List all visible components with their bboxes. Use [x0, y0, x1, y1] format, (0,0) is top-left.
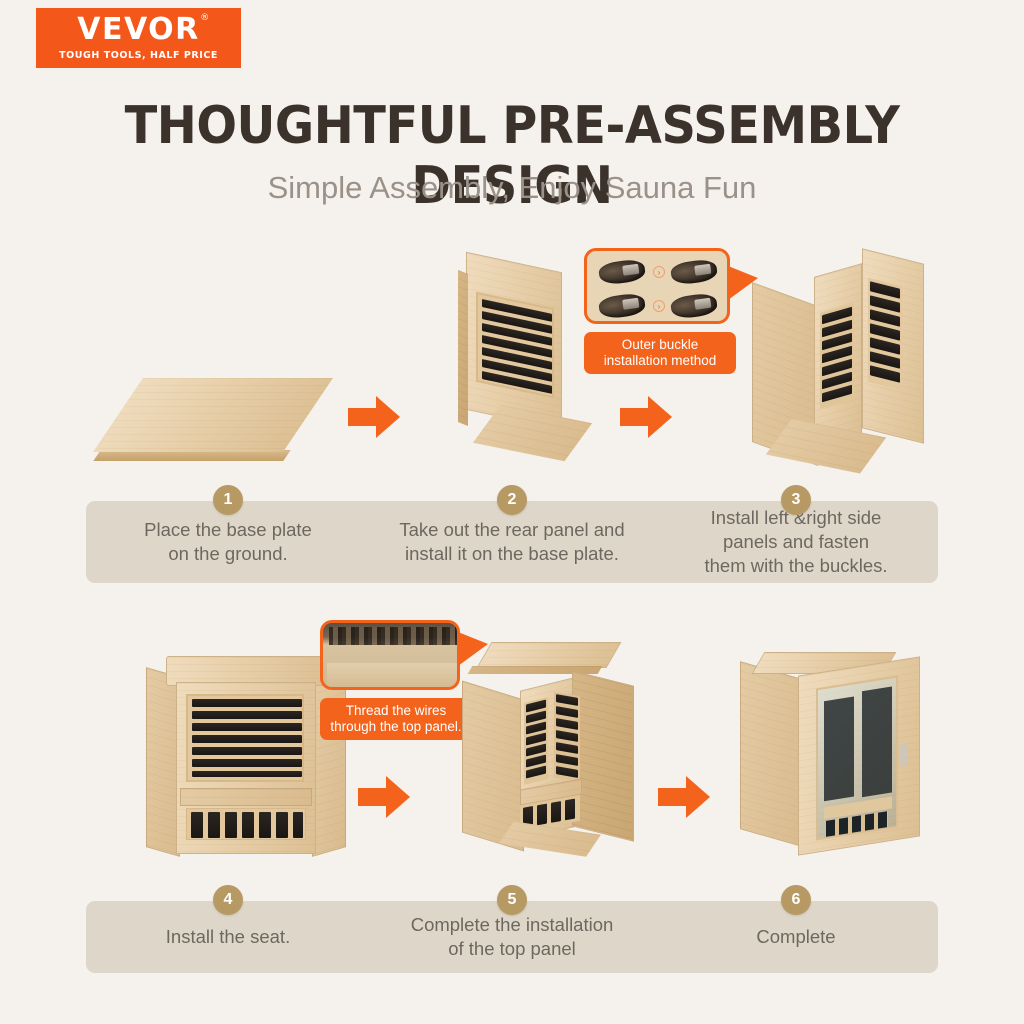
- caption-line: install it on the base plate.: [399, 542, 624, 566]
- cabin-left-wall: [146, 667, 180, 857]
- caption-line: on the ground.: [144, 542, 312, 566]
- arrow-shaft: [358, 788, 388, 806]
- arrow-head: [386, 776, 410, 818]
- caption-band-row2: 4 Install the seat. 5 Complete the insta…: [86, 901, 938, 973]
- callout-label-line2: installation method: [593, 353, 727, 369]
- door-handle-icon: [900, 743, 907, 766]
- buckle-icon-4: [670, 292, 719, 320]
- caption-cell-4: 4 Install the seat.: [86, 901, 370, 973]
- callout-label-outer-buckle: Outer buckle installation method: [584, 332, 736, 374]
- arrow-right-icon-1: [348, 396, 400, 438]
- step-badge-6: 6: [781, 885, 811, 915]
- arrow-right-icon-2: [620, 396, 672, 438]
- step-badge-1: 1: [213, 485, 243, 515]
- arrow-head: [648, 396, 672, 438]
- seat-surface: [180, 788, 312, 806]
- caption-text-4: Install the seat.: [160, 925, 296, 949]
- interior-heater-view-left: [824, 696, 854, 801]
- caption-line: Place the base plate: [144, 518, 312, 542]
- rear-heater-array: [820, 303, 854, 409]
- figure-seat-installed: [146, 648, 346, 863]
- buckle-icon-1: [598, 258, 647, 286]
- caption-text-2: Take out the rear panel and install it o…: [393, 518, 630, 566]
- arrow-shaft: [658, 788, 688, 806]
- interior-heater-view-right: [862, 686, 892, 797]
- caption-cell-1: 1 Place the base plate on the ground.: [86, 501, 370, 583]
- back-heater-array: [186, 694, 304, 782]
- floating-top-panel: [476, 642, 621, 668]
- caption-line: Complete: [756, 925, 835, 949]
- cabin-right-face: [572, 670, 634, 841]
- arrow-right-icon-4: [658, 776, 710, 818]
- arrow-head: [376, 396, 400, 438]
- arrow-shaft: [348, 408, 378, 426]
- step-badge-4: 4: [213, 885, 243, 915]
- callout-label-line1: Outer buckle: [593, 337, 727, 353]
- step-badge-5: 5: [497, 885, 527, 915]
- caption-text-3: Install left &right side panels and fast…: [698, 506, 893, 578]
- callout-label-line1: Thread the wires: [329, 703, 463, 719]
- callout-buckle-photo: › ›: [584, 248, 730, 324]
- right-heater-array: [868, 278, 902, 390]
- top-panel-edge: [327, 663, 459, 689]
- arrow-shaft: [620, 408, 650, 426]
- sauna-left-wall: [740, 661, 802, 847]
- figure-base-plate: [118, 378, 318, 473]
- sauna-glass-door: [816, 676, 898, 841]
- caption-cell-2: 2 Take out the rear panel and install it…: [370, 501, 654, 583]
- callout-label-thread-wires: Thread the wires through the top panel.: [320, 698, 472, 740]
- registered-mark-icon: ®: [200, 14, 211, 23]
- caption-band-row1: 1 Place the base plate on the ground. 2 …: [86, 501, 938, 583]
- caption-cell-6: 6 Complete: [654, 901, 938, 973]
- step-badge-2: 2: [497, 485, 527, 515]
- caption-line: panels and fasten: [704, 530, 887, 554]
- caption-line: Complete the installation: [411, 913, 614, 937]
- rear-panel-side: [458, 270, 468, 426]
- logo-word-text: VEVOR: [77, 12, 200, 47]
- figure-top-panel: [462, 642, 652, 862]
- caption-line: of the top panel: [411, 937, 614, 961]
- arrow-head: [686, 776, 710, 818]
- callout-outer-buckle: › › Outer buckle installation method: [584, 248, 744, 368]
- callout-wire-photo: [320, 620, 460, 690]
- buckle-marker-2: ›: [653, 300, 665, 312]
- wire-bundle: [329, 627, 457, 645]
- step-badge-3: 3: [781, 485, 811, 515]
- caption-cell-3: 3 Install left &right side panels and fa…: [654, 501, 938, 583]
- logo-wordmark: VEVOR®: [77, 15, 200, 45]
- buckle-icon-2: [670, 258, 719, 286]
- rear-panel-heater-array: [476, 292, 554, 399]
- buckle-icon-3: [598, 292, 647, 320]
- buckle-marker-1: ›: [653, 266, 665, 278]
- interior-heater-right: [554, 692, 580, 783]
- under-seat-heater-array: [186, 808, 306, 840]
- vevor-logo: VEVOR® TOUGH TOOLS, HALF PRICE: [36, 8, 241, 68]
- caption-text-5: Complete the installation of the top pan…: [405, 913, 620, 961]
- figure-side-panels: [742, 256, 942, 471]
- caption-cell-5: 5 Complete the installation of the top p…: [370, 901, 654, 973]
- caption-line: them with the buckles.: [704, 554, 887, 578]
- logo-tagline: TOUGH TOOLS, HALF PRICE: [59, 50, 218, 61]
- caption-line: Install the seat.: [166, 925, 290, 949]
- caption-text-6: Complete: [750, 925, 841, 949]
- page-subtitle: Simple Assembly, Enjoy Sauna Fun: [0, 170, 1024, 206]
- base-plate-top: [93, 378, 333, 452]
- callout-label-line2: through the top panel.: [329, 719, 463, 735]
- arrow-right-icon-3: [358, 776, 410, 818]
- caption-text-1: Place the base plate on the ground.: [138, 518, 318, 566]
- caption-line: Take out the rear panel and: [399, 518, 624, 542]
- figure-complete-sauna: [740, 648, 930, 860]
- interior-heater-left: [524, 697, 548, 785]
- callout-thread-wires: Thread the wires through the top panel.: [320, 620, 480, 735]
